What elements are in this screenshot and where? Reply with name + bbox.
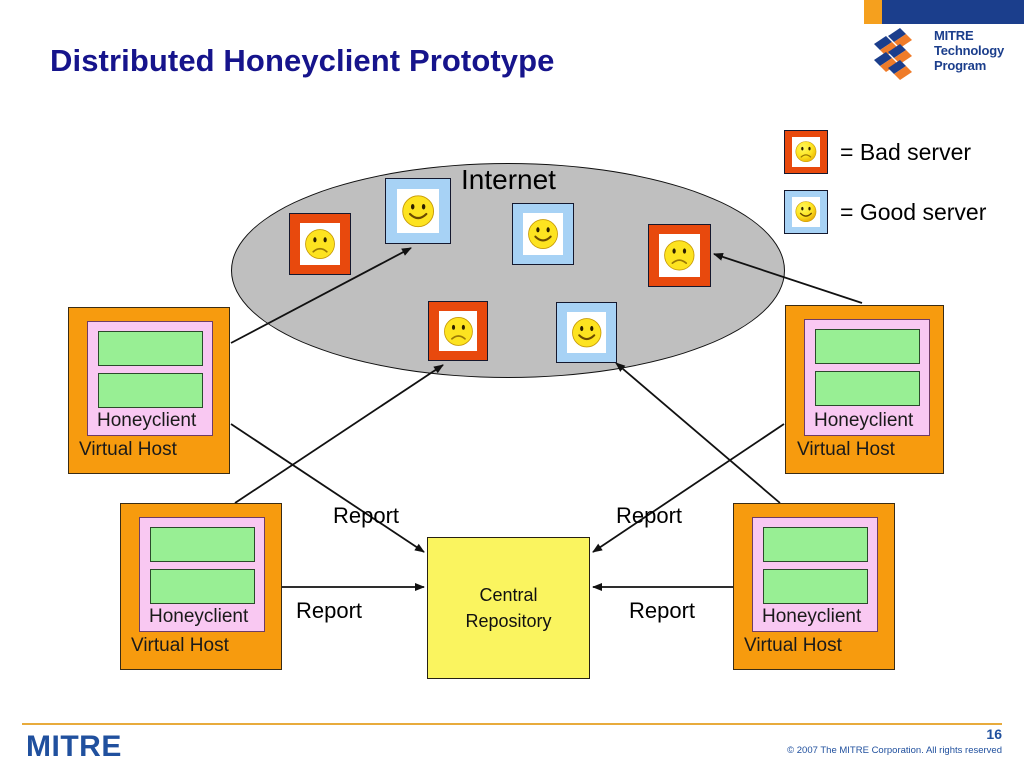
internet-label: Internet (461, 164, 556, 196)
icon-plate (792, 137, 820, 166)
mitre-logo-line-3: Program (934, 58, 1004, 73)
icon-plate (567, 312, 606, 353)
header-orange-accent (864, 0, 882, 24)
honeyclient-slot-2 (150, 569, 255, 604)
server-good-2[interactable] (512, 203, 574, 265)
server-bad-1[interactable] (289, 213, 351, 275)
report-label-bottom-right: Report (629, 598, 695, 624)
mitre-technology-program-logo: MITRE Technology Program (872, 28, 1020, 88)
copyright-notice: © 2007 The MITRE Corporation. All rights… (787, 745, 1002, 756)
icon-plate (659, 234, 699, 277)
report-label-top-right: Report (616, 503, 682, 529)
header-blue-bar (882, 0, 1024, 24)
icon-plate (439, 311, 477, 352)
honeyclient-slot-1 (815, 329, 920, 364)
legend-label-good-server: = Good server (840, 199, 986, 226)
page-title: Distributed Honeyclient Prototype (50, 43, 555, 79)
honeyclient-box: Honeyclient (804, 319, 930, 436)
arrow-host-br-to-internet (616, 363, 780, 503)
repository-line-1: Central (479, 582, 537, 608)
honeyclient-label: Honeyclient (762, 606, 861, 628)
mitre-footer-logo: MITRE (26, 730, 122, 764)
honeyclient-box: Honeyclient (87, 321, 213, 436)
server-bad-2[interactable] (648, 224, 711, 287)
honeyclient-slot-1 (763, 527, 868, 562)
repository-line-2: Repository (465, 608, 551, 634)
icon-plate (397, 189, 439, 234)
report-label-bottom-left: Report (296, 598, 362, 624)
sad-face-glyph (303, 226, 337, 262)
smiley-face-glyph (570, 315, 603, 351)
host-top-left[interactable]: Honeyclient Virtual Host (68, 307, 230, 474)
virtual-host-label: Virtual Host (744, 635, 842, 657)
mitre-logo-line-2: Technology (934, 43, 1004, 58)
smiley-face-glyph (400, 192, 436, 231)
mitre-logo-wordmark: MITRE Technology Program (934, 28, 1004, 73)
slide-canvas: Distributed Honeyclient Prototype MITRE … (0, 0, 1024, 768)
legend-item-bad-server: = Bad server (784, 130, 971, 174)
smiley-face-glyph (526, 216, 560, 252)
icon-plate (523, 213, 563, 255)
smiley-face-icon (784, 190, 828, 234)
report-label-top-left: Report (333, 503, 399, 529)
sad-face-glyph (662, 237, 697, 274)
sad-face-icon (784, 130, 828, 174)
honeyclient-slot-1 (98, 331, 203, 366)
host-top-right[interactable]: Honeyclient Virtual Host (785, 305, 944, 474)
sad-face-glyph (442, 314, 475, 349)
honeyclient-box: Honeyclient (139, 517, 265, 632)
sad-face-glyph (794, 139, 818, 164)
icon-plate (300, 223, 340, 265)
virtual-host-label: Virtual Host (131, 635, 229, 657)
mitre-diamond-icon (872, 28, 932, 86)
legend-item-good-server: = Good server (784, 190, 986, 234)
central-repository[interactable]: Central Repository (427, 537, 590, 679)
honeyclient-slot-2 (98, 373, 203, 408)
mitre-logo-line-1: MITRE (934, 28, 1004, 43)
honeyclient-label: Honeyclient (149, 606, 248, 628)
smiley-face-glyph (794, 199, 818, 224)
honeyclient-slot-2 (763, 569, 868, 604)
honeyclient-slot-1 (150, 527, 255, 562)
honeyclient-label: Honeyclient (97, 410, 196, 432)
page-number: 16 (986, 726, 1002, 742)
honeyclient-label: Honeyclient (814, 410, 913, 432)
footer-divider (22, 723, 1002, 725)
icon-plate (792, 197, 820, 226)
virtual-host-label: Virtual Host (797, 439, 895, 461)
virtual-host-label: Virtual Host (79, 439, 177, 461)
legend-label-bad-server: = Bad server (840, 139, 971, 166)
host-bottom-left[interactable]: Honeyclient Virtual Host (120, 503, 282, 670)
server-good-1[interactable] (385, 178, 451, 244)
server-good-3[interactable] (556, 302, 617, 363)
honeyclient-box: Honeyclient (752, 517, 878, 632)
honeyclient-slot-2 (815, 371, 920, 406)
arrow-host-bl-to-internet (235, 365, 443, 503)
host-bottom-right[interactable]: Honeyclient Virtual Host (733, 503, 895, 670)
server-bad-3[interactable] (428, 301, 488, 361)
